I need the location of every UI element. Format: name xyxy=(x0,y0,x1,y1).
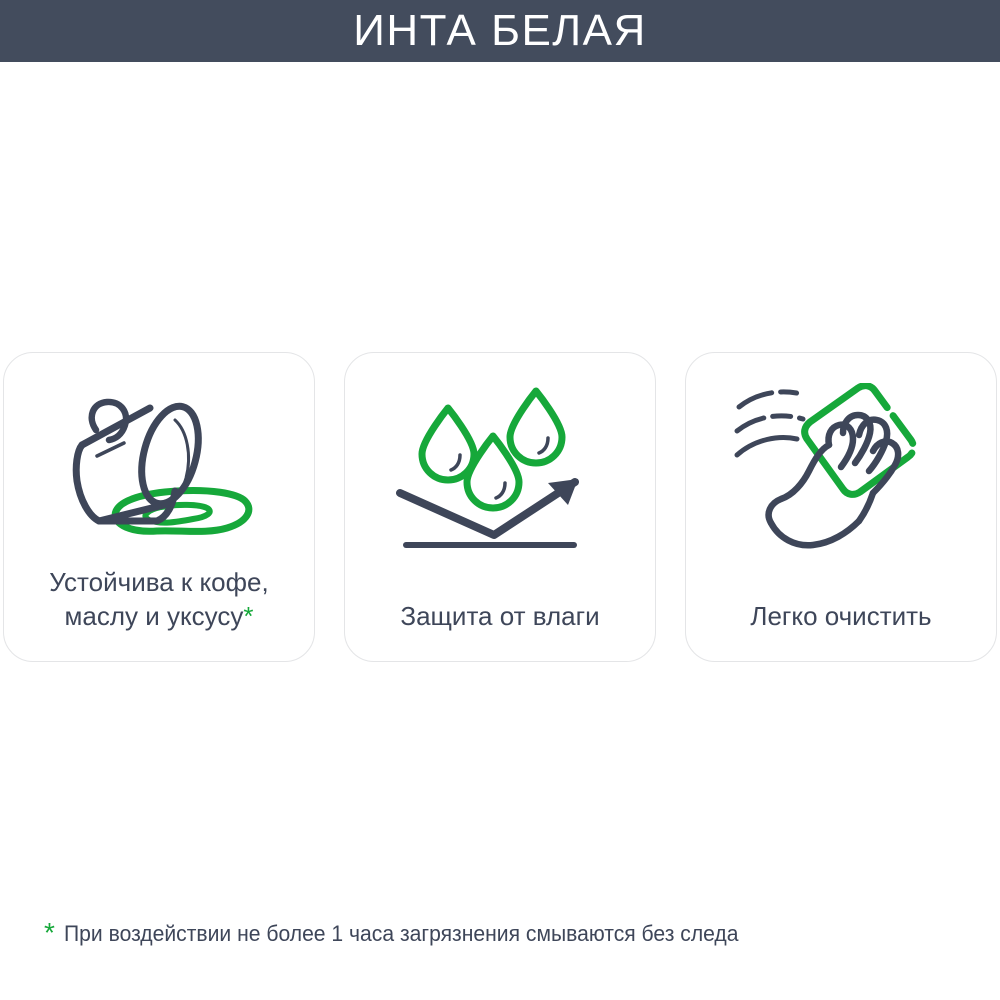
spilled-mug-icon xyxy=(49,383,269,553)
footnote: * При воздействии не более 1 часа загряз… xyxy=(44,920,767,948)
feature-card-moisture-protection[interactable]: Защита от влаги xyxy=(344,352,656,662)
footnote-text: При воздействии не более 1 часа загрязне… xyxy=(64,920,738,948)
asterisk-marker: * xyxy=(243,601,253,631)
hand-wiping-cloth-icon xyxy=(731,383,951,553)
feature-card-label-line1: Защита от влаги xyxy=(400,601,599,631)
footnote-asterisk-icon: * xyxy=(44,920,55,946)
feature-card-stain-resistant[interactable]: Устойчива к кофе, маслу и уксусу* xyxy=(3,352,315,662)
feature-card-label-line1: Устойчива к кофе, xyxy=(49,567,268,597)
feature-card-label: Защита от влаги xyxy=(353,600,647,633)
feature-card-label-line2: маслу и уксусу xyxy=(65,601,244,631)
feature-card-label: Легко очистить xyxy=(694,600,988,633)
feature-card-easy-clean[interactable]: Легко очистить xyxy=(685,352,997,662)
header-bar: ИНТА БЕЛАЯ xyxy=(0,0,1000,62)
water-drops-repel-icon xyxy=(390,383,610,553)
feature-card-label-line1: Легко очистить xyxy=(750,601,931,631)
feature-cards-row: Устойчива к кофе, маслу и уксусу* xyxy=(3,352,997,664)
page-title: ИНТА БЕЛАЯ xyxy=(353,9,647,53)
feature-card-label: Устойчива к кофе, маслу и уксусу* xyxy=(12,566,306,633)
